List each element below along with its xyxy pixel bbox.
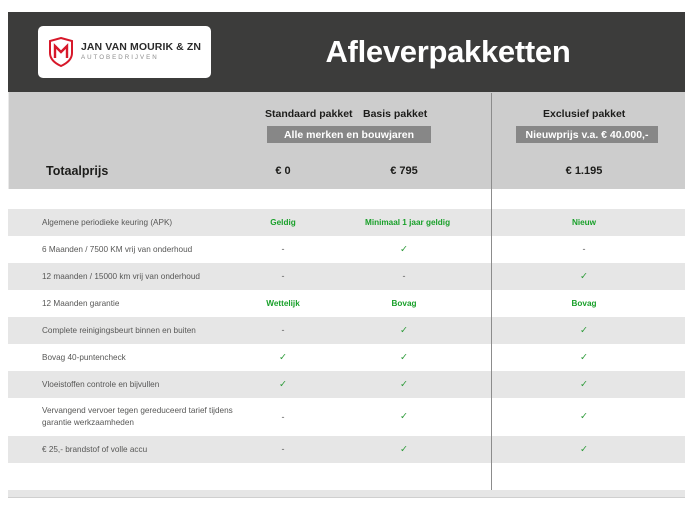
check-icon: ✓ xyxy=(279,379,287,390)
feature-label: 12 Maanden garantie xyxy=(8,298,240,310)
feature-comparison-table: Algemene periodieke keuring (APK)GeldigM… xyxy=(8,189,685,491)
cell-exclusief: - xyxy=(545,245,623,254)
table-row: 12 maanden / 15000 km vrij van onderhoud… xyxy=(8,263,685,290)
feature-label: Vervangend vervoer tegen gereduceerd tar… xyxy=(8,405,240,429)
cell-basis: ✓ xyxy=(365,412,443,422)
brand-tagline: AUTOBEDRIJVEN xyxy=(81,55,201,61)
cell-standaard: - xyxy=(244,326,322,335)
total-price-label: Totaalprijs xyxy=(46,164,108,178)
dash-icon: - xyxy=(282,325,285,335)
bottom-strip xyxy=(8,490,685,497)
check-icon: ✓ xyxy=(580,411,588,422)
feature-label: Vloeistoffen controle en bijvullen xyxy=(8,379,240,391)
dash-icon: - xyxy=(282,271,285,281)
table-row: Complete reinigingsbeurt binnen en buite… xyxy=(8,317,685,344)
total-price-exclusief: € 1.195 xyxy=(545,165,623,177)
total-price-standaard: € 0 xyxy=(244,165,322,177)
cell-basis: ✓ xyxy=(365,326,443,336)
cell-basis: ✓ xyxy=(365,245,443,255)
cell-basis: Minimaal 1 jaar geldig xyxy=(365,218,443,227)
value-text: Bovag xyxy=(571,299,596,308)
table-bottom-spacer xyxy=(8,463,685,491)
check-icon: ✓ xyxy=(400,352,408,363)
cell-standaard: Wettelijk xyxy=(244,299,322,308)
feature-label: € 25,- brandstof of volle accu xyxy=(8,444,240,456)
total-price-basis: € 795 xyxy=(365,165,443,177)
cell-basis: ✓ xyxy=(365,353,443,363)
cell-standaard: - xyxy=(244,245,322,254)
shield-m-icon xyxy=(48,37,74,67)
brand-name: JAN VAN MOURIK & ZN xyxy=(81,42,201,53)
dash-icon: - xyxy=(403,271,406,281)
cell-basis: ✓ xyxy=(365,445,443,455)
badge-nieuwprijs: Nieuwprijs v.a. € 40.000,- xyxy=(516,126,658,143)
cell-exclusief: Bovag xyxy=(545,299,623,308)
value-text: Wettelijk xyxy=(266,299,300,308)
value-text: Geldig xyxy=(270,218,295,227)
value-text: Nieuw xyxy=(572,218,596,227)
check-icon: ✓ xyxy=(580,444,588,455)
cell-exclusief: Nieuw xyxy=(545,218,623,227)
check-icon: ✓ xyxy=(400,244,408,255)
dash-icon: - xyxy=(282,444,285,454)
value-text: Bovag xyxy=(391,299,416,308)
cell-exclusief: ✓ xyxy=(545,272,623,282)
cell-basis: ✓ xyxy=(365,380,443,390)
dash-icon: - xyxy=(583,244,586,254)
brand-logo: JAN VAN MOURIK & ZN AUTOBEDRIJVEN xyxy=(38,26,211,78)
table-row: 6 Maanden / 7500 KM vrij van onderhoud-✓… xyxy=(8,236,685,263)
dash-icon: - xyxy=(282,244,285,254)
cell-exclusief: ✓ xyxy=(545,412,623,422)
page-root: JAN VAN MOURIK & ZN AUTOBEDRIJVEN Afleve… xyxy=(0,0,685,514)
check-icon: ✓ xyxy=(580,271,588,282)
bottom-rule xyxy=(8,497,685,498)
cell-standaard: - xyxy=(244,413,322,422)
cell-exclusief: ✓ xyxy=(545,353,623,363)
check-icon: ✓ xyxy=(580,379,588,390)
check-icon: ✓ xyxy=(580,325,588,336)
cell-exclusief: ✓ xyxy=(545,445,623,455)
feature-label: 12 maanden / 15000 km vrij van onderhoud xyxy=(8,271,240,283)
cell-standaard: ✓ xyxy=(244,353,322,363)
table-top-spacer xyxy=(8,189,685,209)
page-title: Afleverpakketten xyxy=(211,12,685,92)
column-header-exclusief: Exclusief pakket xyxy=(543,108,625,120)
badge-alle-merken: Alle merken en bouwjaren xyxy=(267,126,431,143)
cell-standaard: - xyxy=(244,445,322,454)
cell-standaard: Geldig xyxy=(244,218,322,227)
feature-label: Complete reinigingsbeurt binnen en buite… xyxy=(8,325,240,337)
cell-exclusief: ✓ xyxy=(545,380,623,390)
header-bar: JAN VAN MOURIK & ZN AUTOBEDRIJVEN Afleve… xyxy=(8,12,685,92)
check-icon: ✓ xyxy=(400,444,408,455)
column-header-standaard: Standaard pakket xyxy=(265,108,353,120)
cell-standaard: - xyxy=(244,272,322,281)
value-text: Minimaal 1 jaar geldig xyxy=(365,218,450,227)
check-icon: ✓ xyxy=(400,411,408,422)
column-header-basis: Basis pakket xyxy=(363,108,427,120)
table-row: € 25,- brandstof of volle accu-✓✓ xyxy=(8,436,685,463)
table-row: Bovag 40-puntencheck✓✓✓ xyxy=(8,344,685,371)
cell-standaard: ✓ xyxy=(244,380,322,390)
cell-basis: Bovag xyxy=(365,299,443,308)
cell-exclusief: ✓ xyxy=(545,326,623,336)
table-row: Algemene periodieke keuring (APK)GeldigM… xyxy=(8,209,685,236)
table-row: Vervangend vervoer tegen gereduceerd tar… xyxy=(8,398,685,436)
table-row: Vloeistoffen controle en bijvullen✓✓✓ xyxy=(8,371,685,398)
column-divider xyxy=(491,93,492,490)
check-icon: ✓ xyxy=(580,352,588,363)
cell-basis: - xyxy=(365,272,443,281)
check-icon: ✓ xyxy=(400,325,408,336)
feature-label: Algemene periodieke keuring (APK) xyxy=(8,217,240,229)
feature-label: 6 Maanden / 7500 KM vrij van onderhoud xyxy=(8,244,240,256)
check-icon: ✓ xyxy=(400,379,408,390)
table-row: 12 Maanden garantieWettelijkBovagBovag xyxy=(8,290,685,317)
package-header-band xyxy=(8,92,685,157)
feature-label: Bovag 40-puntencheck xyxy=(8,352,240,364)
check-icon: ✓ xyxy=(279,352,287,363)
dash-icon: - xyxy=(282,412,285,422)
